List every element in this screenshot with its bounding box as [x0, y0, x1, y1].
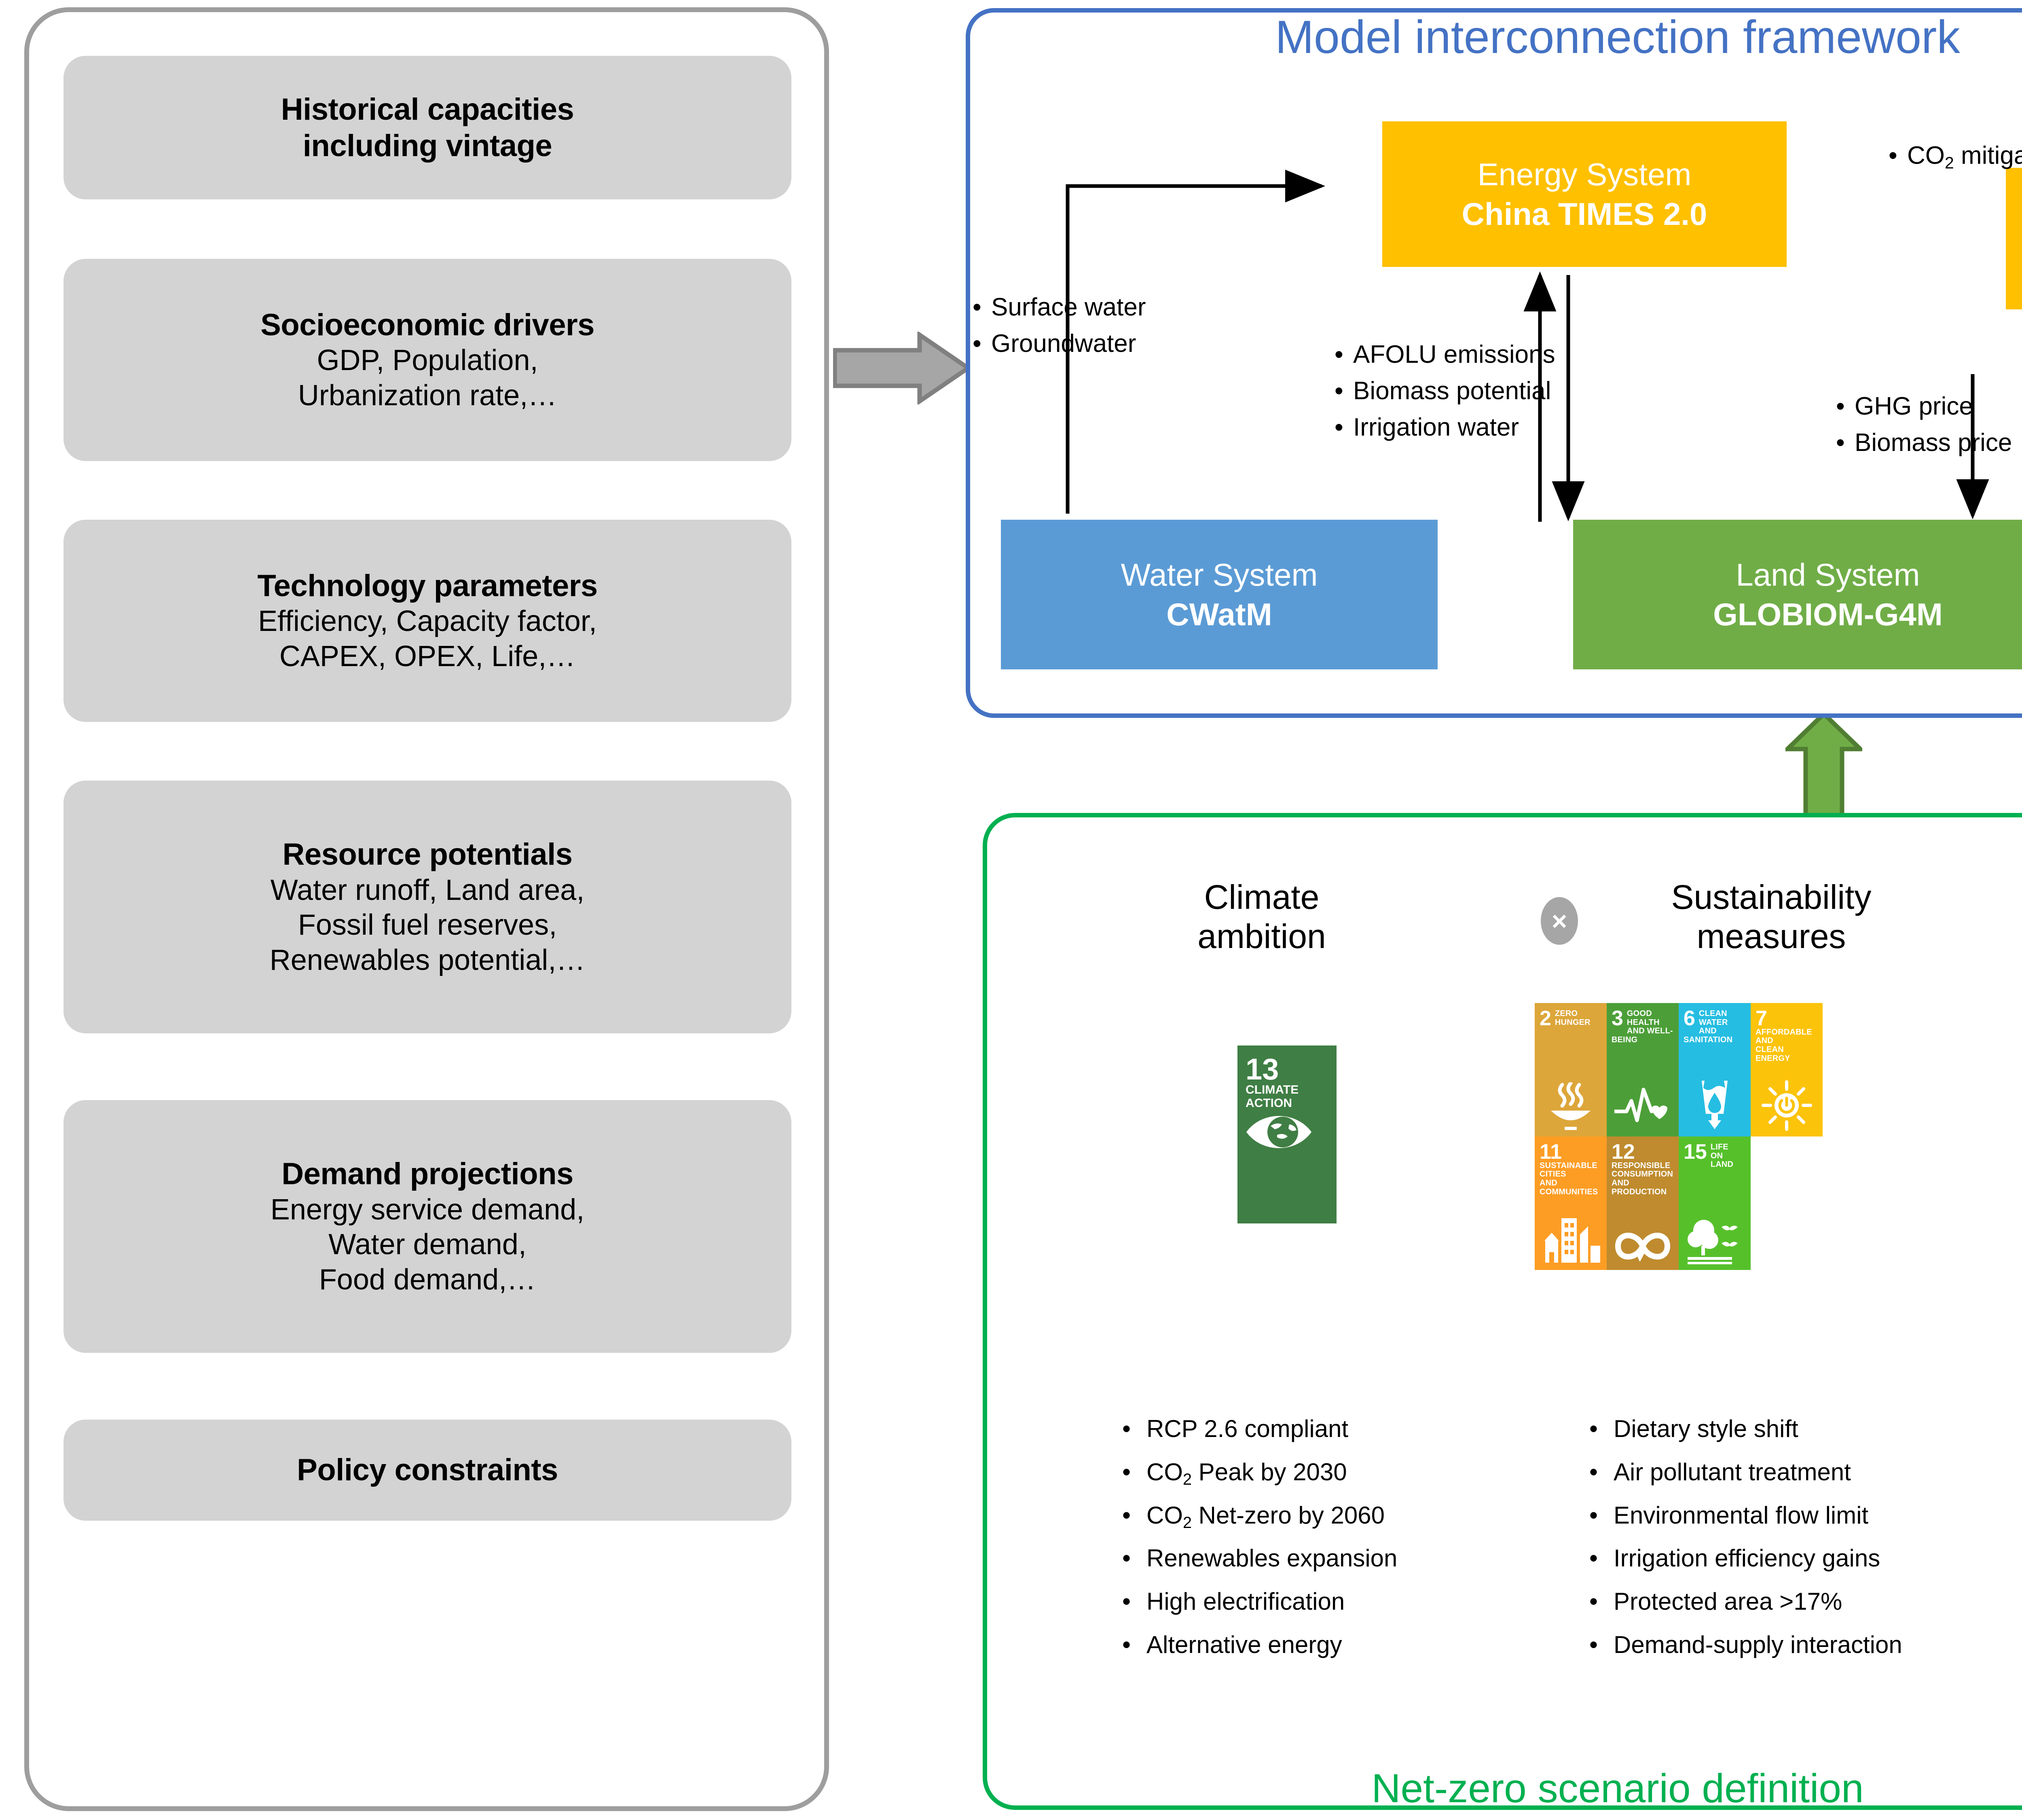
input-card-4[interactable]: Demand projectionsEnergy service demand,…	[63, 1100, 791, 1353]
heartbeat-icon	[1607, 1086, 1679, 1131]
list-item: RCP 2.6 compliant	[1122, 1407, 1397, 1451]
heading-line1: Sustainability	[1610, 878, 1933, 917]
sdg-number: 15	[1684, 1143, 1707, 1162]
list-item: Irrigation efficiency gains	[1589, 1537, 1902, 1580]
input-card-title: Socioeconomic drivers	[260, 307, 594, 343]
scenario-to-framework-arrow	[1785, 712, 1862, 821]
flow-energy-to-provincial: CO2 mitigation pathway	[1889, 138, 2022, 175]
list-item: Environmental flow limit	[1589, 1494, 1902, 1537]
sdg-number: 13	[1246, 1056, 1279, 1083]
sdg-number: 7	[1756, 1009, 1767, 1028]
input-card-0[interactable]: Historical capacitiesincluding vintage	[63, 56, 791, 199]
city-buildings-icon	[1535, 1217, 1607, 1264]
sdg-tile-2-zero-hunger[interactable]: 2 ZERO HUNGER	[1535, 1003, 1607, 1136]
sdg-tile-3-good-health[interactable]: 3 GOOD HEALTH AND WELL-BEING	[1607, 1003, 1679, 1136]
input-card-5[interactable]: Policy constraints	[63, 1420, 791, 1521]
pillar-heading-climate-ambition: Climate ambition	[1132, 878, 1391, 956]
input-card-detail: Energy service demand,Water demand,Food …	[271, 1192, 584, 1297]
multiply-operator-1: ×	[1541, 897, 1578, 945]
flow-water-to-energy: Surface water Groundwater	[973, 289, 1146, 362]
sdg-number: 2	[1540, 1009, 1551, 1028]
sdg-number: 12	[1612, 1143, 1635, 1162]
flow-item: GHG price	[1836, 388, 2012, 425]
list-item: High electrification	[1122, 1580, 1397, 1623]
flow-item: Biomass price	[1836, 425, 2012, 461]
input-card-title: Technology parameters	[257, 568, 597, 604]
sdg-label-line2: ACTION	[1246, 1096, 1331, 1110]
model-box-water-system[interactable]: Water System CWatM	[1001, 520, 1438, 669]
model-box-energy-system[interactable]: Energy System China TIMES 2.0	[1382, 121, 1787, 267]
box-label-line1: Energy System	[1478, 157, 1692, 191]
sdg-tile-13-climate-action[interactable]: 13 CLIMATE ACTION	[1237, 1045, 1337, 1223]
pillar-heading-sustainability-measures: Sustainability measures	[1610, 878, 1933, 956]
scenario-panel-title: Net-zero scenario definition	[0, 1768, 2022, 1809]
flow-item: CO2 mitigation pathway	[1889, 138, 2022, 175]
input-card-detail: Water runoff, Land area,Fossil fuel rese…	[270, 873, 585, 978]
sun-power-icon	[1751, 1080, 1823, 1131]
sdg-label-line3: AND PRODUCTION	[1612, 1179, 1675, 1196]
sdg-label-line2: AND COMMUNITIES	[1540, 1179, 1603, 1196]
model-box-land-system[interactable]: Land System GLOBIOM-G4M	[1573, 520, 2022, 669]
sdg-number: 6	[1684, 1009, 1695, 1028]
input-card-1[interactable]: Socioeconomic driversGDP, Population,Urb…	[63, 259, 791, 461]
flow-land-to-energy: AFOLU emissions Biomass potential Irriga…	[1335, 336, 1555, 446]
list-item: CO2 Peak by 2030	[1122, 1451, 1397, 1494]
sdg-tile-7-affordable-clean-energy[interactable]: 7 AFFORDABLE AND CLEAN ENERGY	[1751, 1003, 1823, 1136]
input-card-2[interactable]: Technology parametersEfficiency, Capacit…	[63, 520, 791, 722]
flow-energy-to-land: GHG price Biomass price	[1836, 388, 2012, 461]
box-label-line2: GLOBIOM-G4M	[1713, 597, 1943, 631]
box-label-line2: CWatM	[1166, 597, 1272, 631]
input-card-3[interactable]: Resource potentialsWater runoff, Land ar…	[63, 781, 791, 1033]
input-card-title: Historical capacitiesincluding vintage	[281, 91, 574, 164]
heading-line2: measures	[1610, 917, 1933, 956]
flow-item: AFOLU emissions	[1335, 336, 1555, 373]
input-card-detail: GDP, Population,Urbanization rate,…	[298, 343, 557, 413]
flow-item: Biomass potential	[1335, 373, 1555, 409]
input-card-title: Resource potentials	[283, 836, 573, 873]
list-item: Demand-supply interaction	[1589, 1623, 1902, 1667]
input-card-title: Policy constraints	[297, 1452, 558, 1488]
input-assumptions-panel: Historical capacitiesincluding vintageSo…	[24, 7, 829, 1811]
flow-item: Irrigation water	[1335, 409, 1555, 446]
water-glass-drop-icon	[1679, 1078, 1751, 1131]
scenario-list-sustainability-measures: Dietary style shift Air pollutant treatm…	[1589, 1407, 1902, 1667]
sdg-label-line2: CONSUMPTION	[1612, 1170, 1675, 1179]
box-label-line2: China TIMES 2.0	[1462, 197, 1707, 231]
flow-item: Groundwater	[973, 326, 1146, 362]
list-item: Air pollutant treatment	[1589, 1451, 1902, 1494]
heading-line1: Climate	[1132, 878, 1391, 917]
sdg-label-line2: CLEAN ENERGY	[1756, 1045, 1819, 1063]
box-label-line1: Land System	[1736, 558, 1920, 592]
input-card-detail: Efficiency, Capacity factor,CAPEX, OPEX,…	[258, 604, 597, 674]
sdg-tile-15-life-on-land[interactable]: 15 LIFE ON LAND	[1679, 1136, 1751, 1270]
flow-item: Surface water	[973, 289, 1146, 326]
heading-line2: ambition	[1132, 917, 1391, 956]
eye-globe-icon	[1246, 1110, 1331, 1156]
sdg-tile-6-clean-water[interactable]: 6 CLEAN WATER AND SANITATION	[1679, 1003, 1751, 1136]
sdg-number: 3	[1612, 1009, 1623, 1028]
sdg-tile-12-responsible-consumption[interactable]: 12 RESPONSIBLE CONSUMPTION AND PRODUCTIO…	[1607, 1136, 1679, 1270]
model-box-provincial-downscaling[interactable]: Provincial Downscaling China-TIMES-30PE	[2006, 168, 2022, 309]
tree-birds-icon	[1679, 1217, 1751, 1264]
sdg-tile-11-sustainable-cities[interactable]: 11 SUSTAINABLE CITIES AND COMMUNITIES	[1535, 1136, 1607, 1270]
list-item: Protected area >17%	[1589, 1580, 1902, 1623]
list-item: Dietary style shift	[1589, 1407, 1902, 1451]
input-card-title: Demand projections	[281, 1156, 573, 1192]
list-item: Renewables expansion	[1122, 1537, 1397, 1580]
inputs-to-framework-arrow	[833, 332, 971, 404]
box-label-line1: Water System	[1121, 558, 1318, 592]
list-item: CO2 Net-zero by 2060	[1122, 1494, 1397, 1537]
sdg-number: 11	[1540, 1143, 1562, 1162]
soup-bowl-icon	[1535, 1082, 1607, 1131]
list-item: Alternative energy	[1122, 1623, 1397, 1667]
scenario-list-climate-ambition: RCP 2.6 compliant CO2 Peak by 2030 CO2 N…	[1122, 1407, 1397, 1667]
infinity-loop-icon	[1607, 1228, 1679, 1264]
